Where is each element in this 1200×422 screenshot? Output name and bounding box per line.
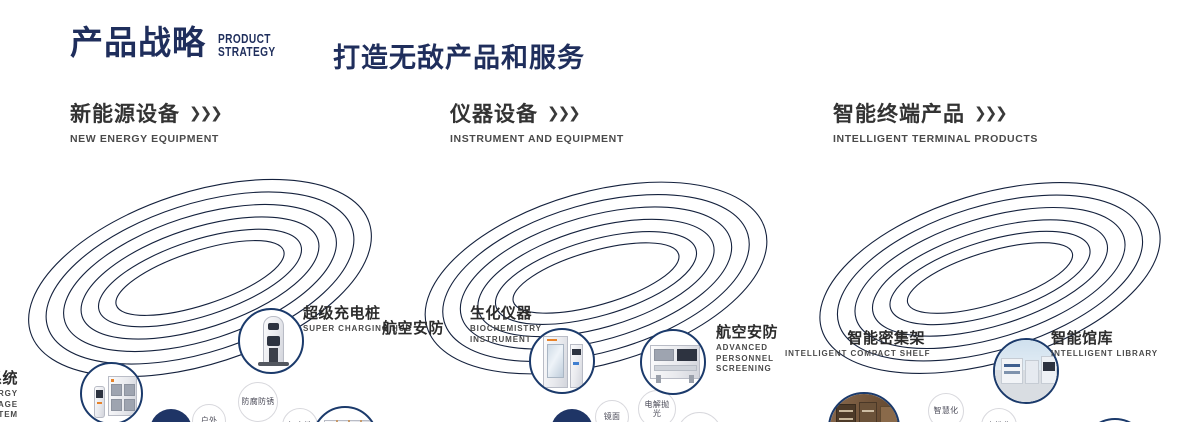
node-compact-shelf [828,392,900,422]
chevron-right-icon: ❯❯❯ [974,104,1006,122]
label-biochemistry: 生化仪器 BIOCHEMISTRY INSTRUMENT [470,305,552,345]
feature-bubble: 防腐防锈 [238,382,278,422]
section-title-en: INTELLIGENT TERMINAL PRODUCTS [833,133,1038,145]
screening-machine-icon [642,331,704,393]
orbit-rings-instrument [400,150,800,415]
section-title-en: INSTRUMENT AND EQUIPMENT [450,133,624,145]
label-smart-library: 智能馆库 INTELLIGENT LIBRARY [1051,330,1158,360]
node-battery-cabinet [80,362,143,422]
panel-instrument: 镜面 电解抛光 钣金与机加工结合 零缺陷 产品特点 [400,150,800,415]
node-charging-pile [238,308,304,374]
section-title-new-energy: 新能源设备 ❯❯❯ NEW ENERGY EQUIPMENT [70,98,221,145]
label-aviation-security-left: 航空安防 [364,320,444,337]
node-pv-inverter [312,406,378,422]
node-smart-library [993,338,1059,404]
compact-shelf-icon [830,394,898,422]
node-screening-machine [640,329,706,395]
section-title-intelligent: 智能终端产品 ❯❯❯ INTELLIGENT TERMINAL PRODUCTS [833,98,1038,145]
charging-pile-icon [240,310,302,372]
page-title: 产品战略 [70,26,206,59]
product-strategy-infographic: 产品战略 PRODUCT STRATEGY 打造无敌产品和服务 新能源设备 ❯❯… [0,0,1200,422]
chevron-right-icon: ❯❯❯ [189,104,221,122]
orbit-rings-new-energy [0,150,400,415]
section-title-instrument: 仪器设备 ❯❯❯ INSTRUMENT AND EQUIPMENT [450,98,624,145]
smart-library-icon [995,340,1057,402]
section-title-cn: 仪器设备 [450,98,538,128]
page-subtitle: 打造无敌产品和服务 [333,36,585,75]
panel-intelligent-terminal: 智慧化 人性化 数字化 产品特点 [790,150,1200,415]
battery-cabinet-icon [82,364,141,422]
label-compact-shelf: 智能密集架 INTELLIGENT COMPACT SHELF [785,330,925,360]
section-title-cn: 智能终端产品 [833,98,965,128]
inverter-cabinet-icon [314,408,376,422]
panel-new-energy: 户外 防腐防锈 防水防尘 气密性 产品特点 [0,150,400,415]
section-title-en: NEW ENERGY EQUIPMENT [70,133,221,145]
label-advanced-screening: 航空安防 ADVANCED PERSONNEL SCREENING [716,324,796,374]
feature-bubble: 智慧化 [928,393,964,422]
page-header: 产品战略 PRODUCT STRATEGY [70,26,292,59]
label-energy-storage: 储能系统 ENERGY STORAGE SYSTEM [0,370,18,420]
node-kiosk-terminal [1082,418,1148,422]
chevron-right-icon: ❯❯❯ [547,104,579,122]
page-title-en: PRODUCT STRATEGY [218,32,276,58]
section-title-cn: 新能源设备 [70,98,180,128]
